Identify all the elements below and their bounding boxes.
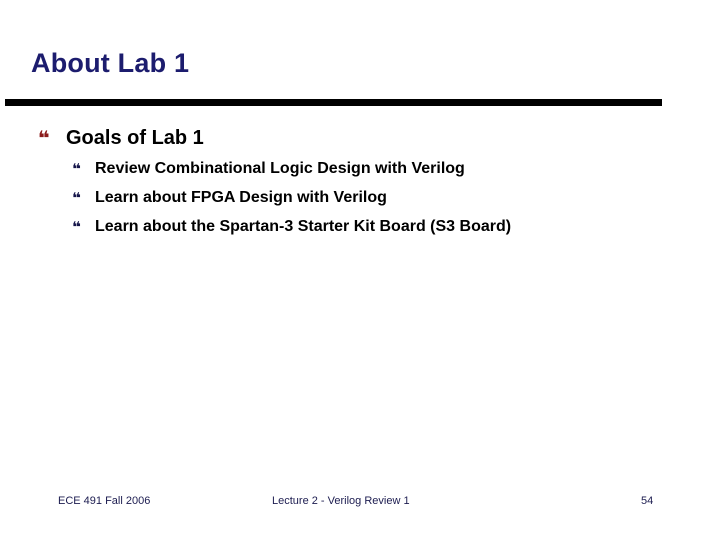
- sub-bullet-list: ❝ Review Combinational Logic Design with…: [0, 157, 720, 244]
- footer-page-number: 54: [641, 495, 653, 507]
- quote-bullet-icon: ❝: [38, 125, 66, 151]
- footer-lecture-label: Lecture 2 - Verilog Review 1: [272, 495, 410, 507]
- bullet-level2: ❝ Review Combinational Logic Design with…: [0, 157, 720, 186]
- title-divider: [5, 99, 662, 106]
- quote-bullet-icon: ❝: [72, 186, 95, 210]
- bullet-level2-label: Learn about the Spartan-3 Starter Kit Bo…: [95, 215, 511, 239]
- slide-body: ❝ Goals of Lab 1 ❝ Review Combinational …: [0, 125, 720, 244]
- bullet-level1: ❝ Goals of Lab 1: [0, 125, 720, 151]
- page-title: About Lab 1: [31, 48, 189, 79]
- bullet-level2: ❝ Learn about the Spartan-3 Starter Kit …: [0, 215, 720, 244]
- quote-bullet-icon: ❝: [72, 157, 95, 181]
- footer-course-label: ECE 491 Fall 2006: [58, 495, 150, 507]
- bullet-level2-label: Learn about FPGA Design with Verilog: [95, 186, 387, 210]
- slide-footer: ECE 491 Fall 2006 Lecture 2 - Verilog Re…: [0, 495, 720, 511]
- bullet-level1-label: Goals of Lab 1: [66, 125, 204, 151]
- bullet-level2-label: Review Combinational Logic Design with V…: [95, 157, 465, 181]
- slide: About Lab 1 ❝ Goals of Lab 1 ❝ Review Co…: [0, 0, 720, 540]
- bullet-level2: ❝ Learn about FPGA Design with Verilog: [0, 186, 720, 215]
- quote-bullet-icon: ❝: [72, 215, 95, 239]
